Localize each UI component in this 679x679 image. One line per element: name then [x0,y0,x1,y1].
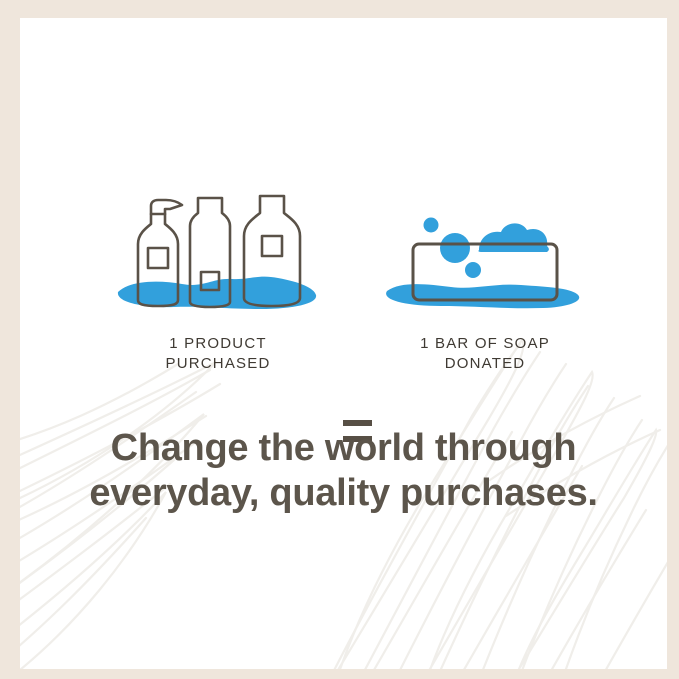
soap-donated-block: 1 BAR OF SOAP DONATED [375,188,595,374]
bubble-small-top [424,218,439,233]
bubble-large [440,233,470,263]
soap-bar-icon [375,188,595,318]
poster-frame: 1 PRODUCT PURCHASED [0,0,679,679]
soap-caption: 1 BAR OF SOAP DONATED [375,334,595,374]
three-bottles-icon [108,188,328,318]
headline-text: Change the world through everyday, quali… [20,426,667,516]
poster-canvas: 1 PRODUCT PURCHASED [20,18,667,669]
bubble-small-bottom [465,262,481,278]
equation-row: 1 PRODUCT PURCHASED [20,188,667,388]
product-purchased-block: 1 PRODUCT PURCHASED [108,188,328,374]
product-caption: 1 PRODUCT PURCHASED [108,334,328,374]
